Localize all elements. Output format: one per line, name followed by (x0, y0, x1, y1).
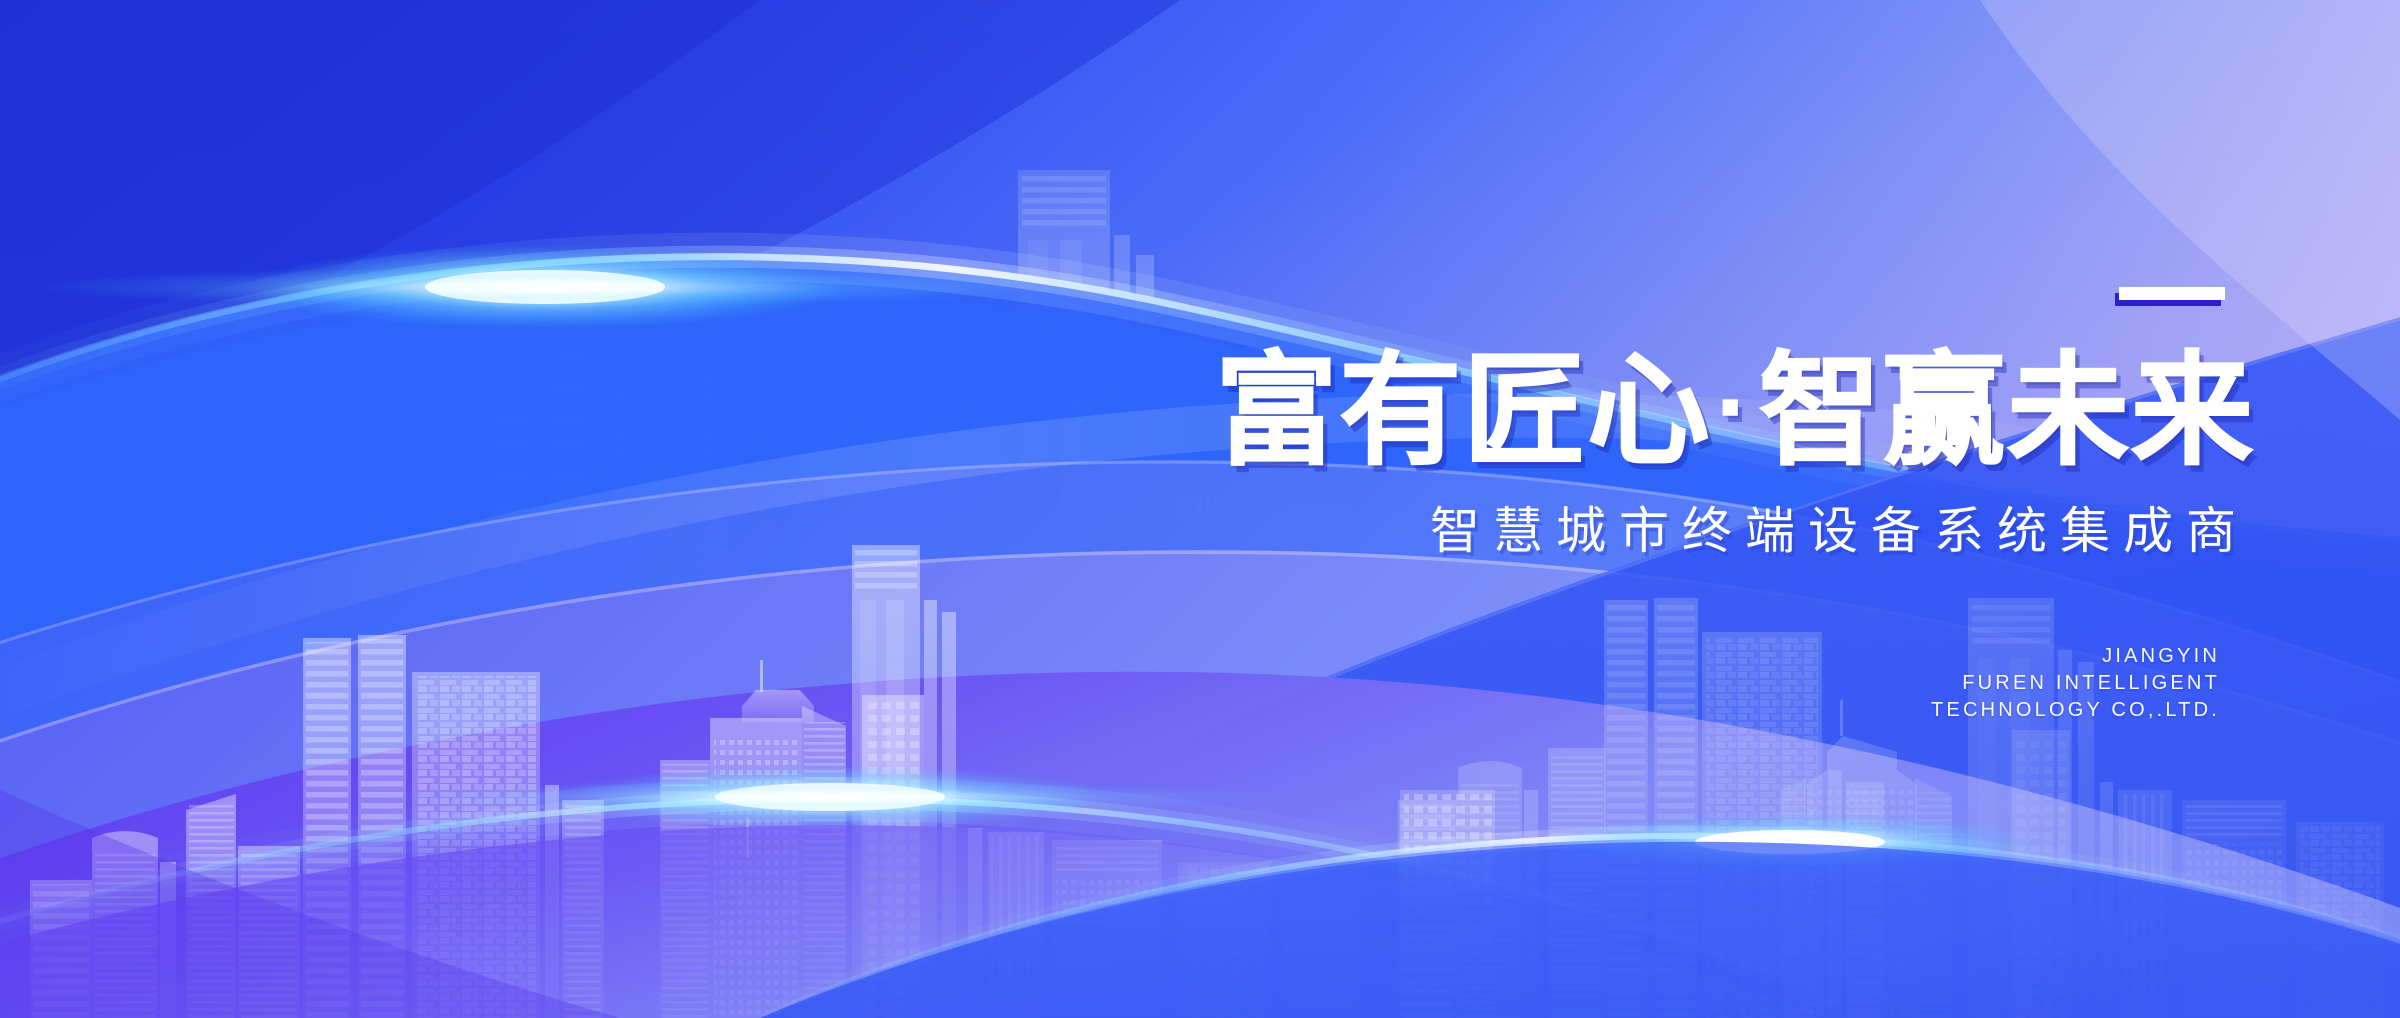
banner-artwork (0, 0, 2400, 1018)
banner-canvas: 富有匠心·智赢未来 智慧城市终端设备系统集成商 JIANGYIN FUREN I… (0, 0, 2400, 1018)
